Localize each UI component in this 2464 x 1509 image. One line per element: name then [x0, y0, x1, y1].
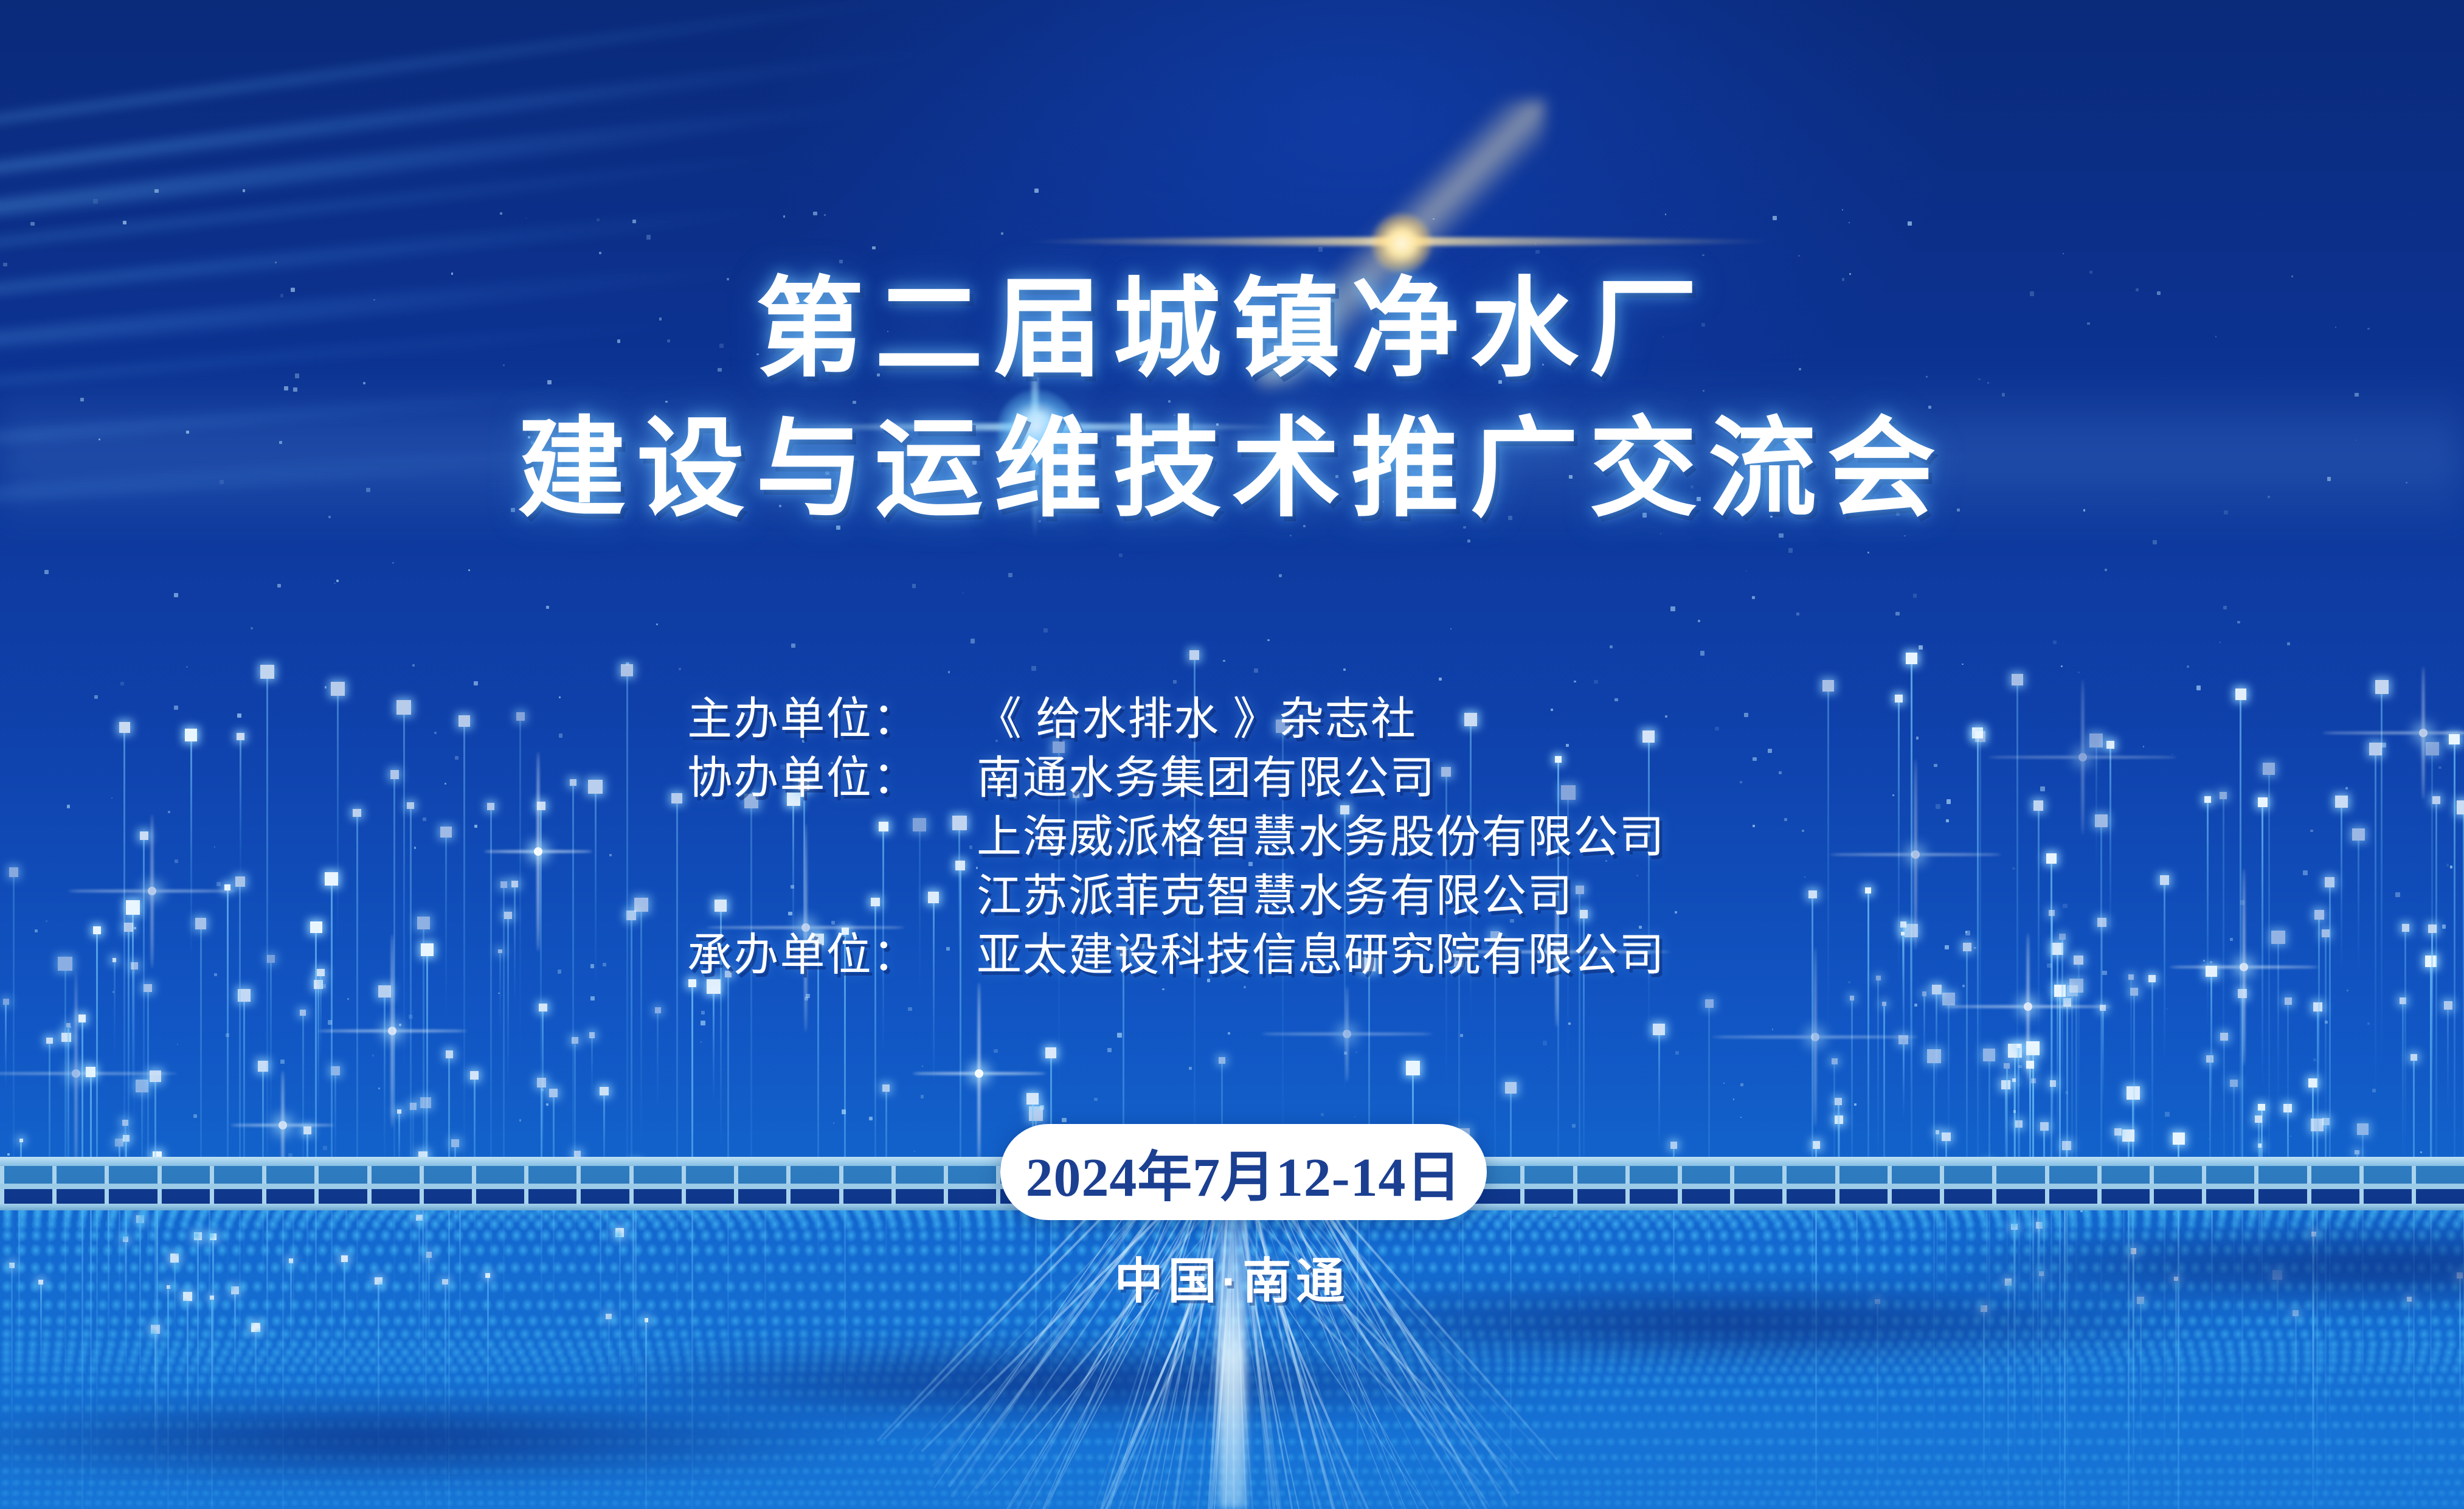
organizer-value: 上海威派格智慧水务股份有限公司	[977, 800, 1665, 866]
organizer-label: 协办单位：	[687, 741, 977, 807]
organizer-value: 亚太建设科技信息研究院有限公司	[977, 918, 1665, 983]
location-text: 中国·南通	[0, 1242, 2464, 1313]
conference-poster: 第二届城镇净水厂 建设与运维技术推广交流会 主办单位： 《 给水排水 》杂志社 …	[0, 0, 2464, 1509]
title-line-1: 第二届城镇净水厂	[0, 275, 2464, 383]
organizer-row: 主办单位： 《 给水排水 》杂志社	[687, 682, 2147, 741]
title-line-2: 建设与运维技术推广交流会	[0, 415, 2464, 523]
organizer-row: 上海威派格智慧水务股份有限公司	[687, 800, 2147, 859]
organizer-value: 《 给水排水 》杂志社	[977, 682, 1416, 748]
organizer-row: 协办单位： 南通水务集团有限公司	[687, 741, 2147, 800]
organizer-label: 承办单位：	[687, 918, 977, 983]
organizer-row: 承办单位： 亚太建设科技信息研究院有限公司	[687, 918, 2147, 977]
organizer-row: 江苏派菲克智慧水务有限公司	[687, 859, 2147, 918]
organizer-label: 主办单位：	[687, 682, 977, 748]
poster-content: 第二届城镇净水厂 建设与运维技术推广交流会 主办单位： 《 给水排水 》杂志社 …	[0, 0, 2464, 1509]
organizer-block: 主办单位： 《 给水排水 》杂志社 协办单位： 南通水务集团有限公司 上海威派格…	[687, 682, 2147, 977]
date-badge: 2024年7月12-14日	[1000, 1124, 1487, 1220]
organizer-value: 南通水务集团有限公司	[977, 741, 1436, 807]
organizer-value: 江苏派菲克智慧水务有限公司	[977, 859, 1573, 924]
date-badge-text: 2024年7月12-14日	[1026, 1133, 1462, 1212]
